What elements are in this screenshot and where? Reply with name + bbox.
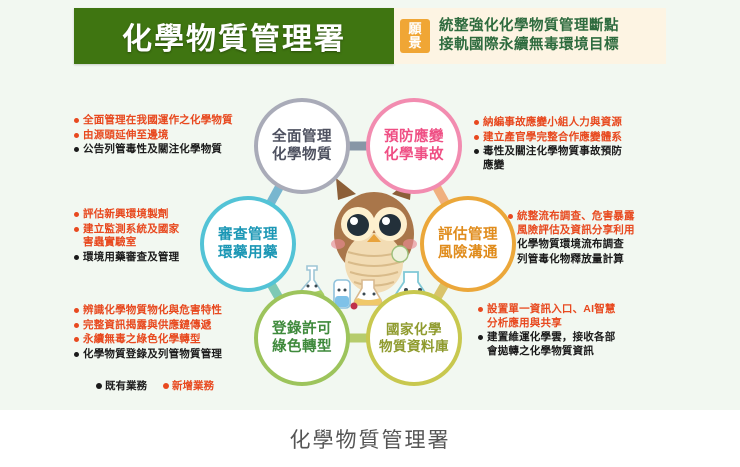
vision-line-2: 接軌國際永續無毒環境目標 xyxy=(439,36,619,55)
vision-panel: 願 景 統整強化化學物質管理斷點 接軌國際永續無毒環境目標 xyxy=(394,8,666,64)
bullet-text: 永續無毒之綠色化學轉型 xyxy=(83,333,201,347)
petal-risk[interactable]: 評估管理 風險溝通 xyxy=(420,196,516,292)
new-item-dot-icon xyxy=(74,337,79,342)
vision-badge: 願 景 xyxy=(400,19,430,53)
infographic-poster: 化學物質管理署 願 景 統整強化化學物質管理斷點 接軌國際永續無毒環境目標 全面… xyxy=(0,0,740,410)
petal-database-label: 國家化學 物質資料庫 xyxy=(379,321,449,355)
vision-statement: 統整強化化學物質管理斷點 接軌國際永續無毒環境目標 xyxy=(439,17,619,55)
vision-badge-line2: 景 xyxy=(402,36,428,50)
new-item-dot-icon xyxy=(74,323,79,328)
caption-bar: 化學物質管理署 xyxy=(0,410,740,467)
caption-text: 化學物質管理署 xyxy=(290,424,451,454)
bullet-text: 環境用藥審查及管理 xyxy=(83,251,179,265)
petal-response-label: 預防應變 化學事故 xyxy=(384,128,444,164)
petal-register-label: 登錄許可 綠色轉型 xyxy=(272,320,332,356)
petal-response[interactable]: 預防應變 化學事故 xyxy=(366,98,462,194)
new-item-dot-icon xyxy=(74,118,79,123)
strategy-flower-diagram: 全面管理 化學物質 預防應變 化學事故 評估管理 風險溝通 國家化學 物質資料庫… xyxy=(196,92,548,392)
legend: 既有業務新增業務 xyxy=(96,378,230,393)
legend-item: 既有業務 xyxy=(96,378,147,393)
petal-database[interactable]: 國家化學 物質資料庫 xyxy=(366,290,462,386)
petal-review-label: 審查管理 環藥用藥 xyxy=(218,226,278,262)
bullet-text: 建立監測系統及國家 害蟲實驗室 xyxy=(83,223,179,250)
page-title: 化學物質管理署 xyxy=(122,14,346,58)
legend-item: 新增業務 xyxy=(163,378,214,393)
petal-manage-label: 全面管理 化學物質 xyxy=(272,128,332,164)
petal-review[interactable]: 審查管理 環藥用藥 xyxy=(200,196,296,292)
existing-item-dot-icon xyxy=(74,147,79,152)
new-item-dot-icon xyxy=(74,227,79,232)
new-item-dot-icon xyxy=(74,212,79,217)
bullet-text: 評估新興環境製劑 xyxy=(83,208,169,222)
existing-item-dot-icon xyxy=(74,255,79,260)
new-item-dot-icon xyxy=(74,308,79,313)
legend-existing-dot-icon xyxy=(96,383,102,389)
legend-label: 既有業務 xyxy=(105,378,147,393)
legend-new-dot-icon xyxy=(163,383,169,389)
poster-title-box: 化學物質管理署 xyxy=(74,8,394,64)
header-band: 化學物質管理署 願 景 統整強化化學物質管理斷點 接軌國際永續無毒環境目標 xyxy=(0,0,740,80)
vision-line-1: 統整強化化學物質管理斷點 xyxy=(439,17,619,36)
petal-manage[interactable]: 全面管理 化學物質 xyxy=(254,98,350,194)
petal-risk-label: 評估管理 風險溝通 xyxy=(438,226,498,262)
bullet-text: 由源頭延伸至邊境 xyxy=(83,129,169,143)
bullet-text: 完整資訊揭露與供應鏈傳遞 xyxy=(83,319,211,333)
petal-register[interactable]: 登錄許可 綠色轉型 xyxy=(254,290,350,386)
legend-label: 新增業務 xyxy=(172,378,214,393)
vision-badge-line1: 願 xyxy=(402,22,428,36)
existing-item-dot-icon xyxy=(74,352,79,357)
new-item-dot-icon xyxy=(74,133,79,138)
